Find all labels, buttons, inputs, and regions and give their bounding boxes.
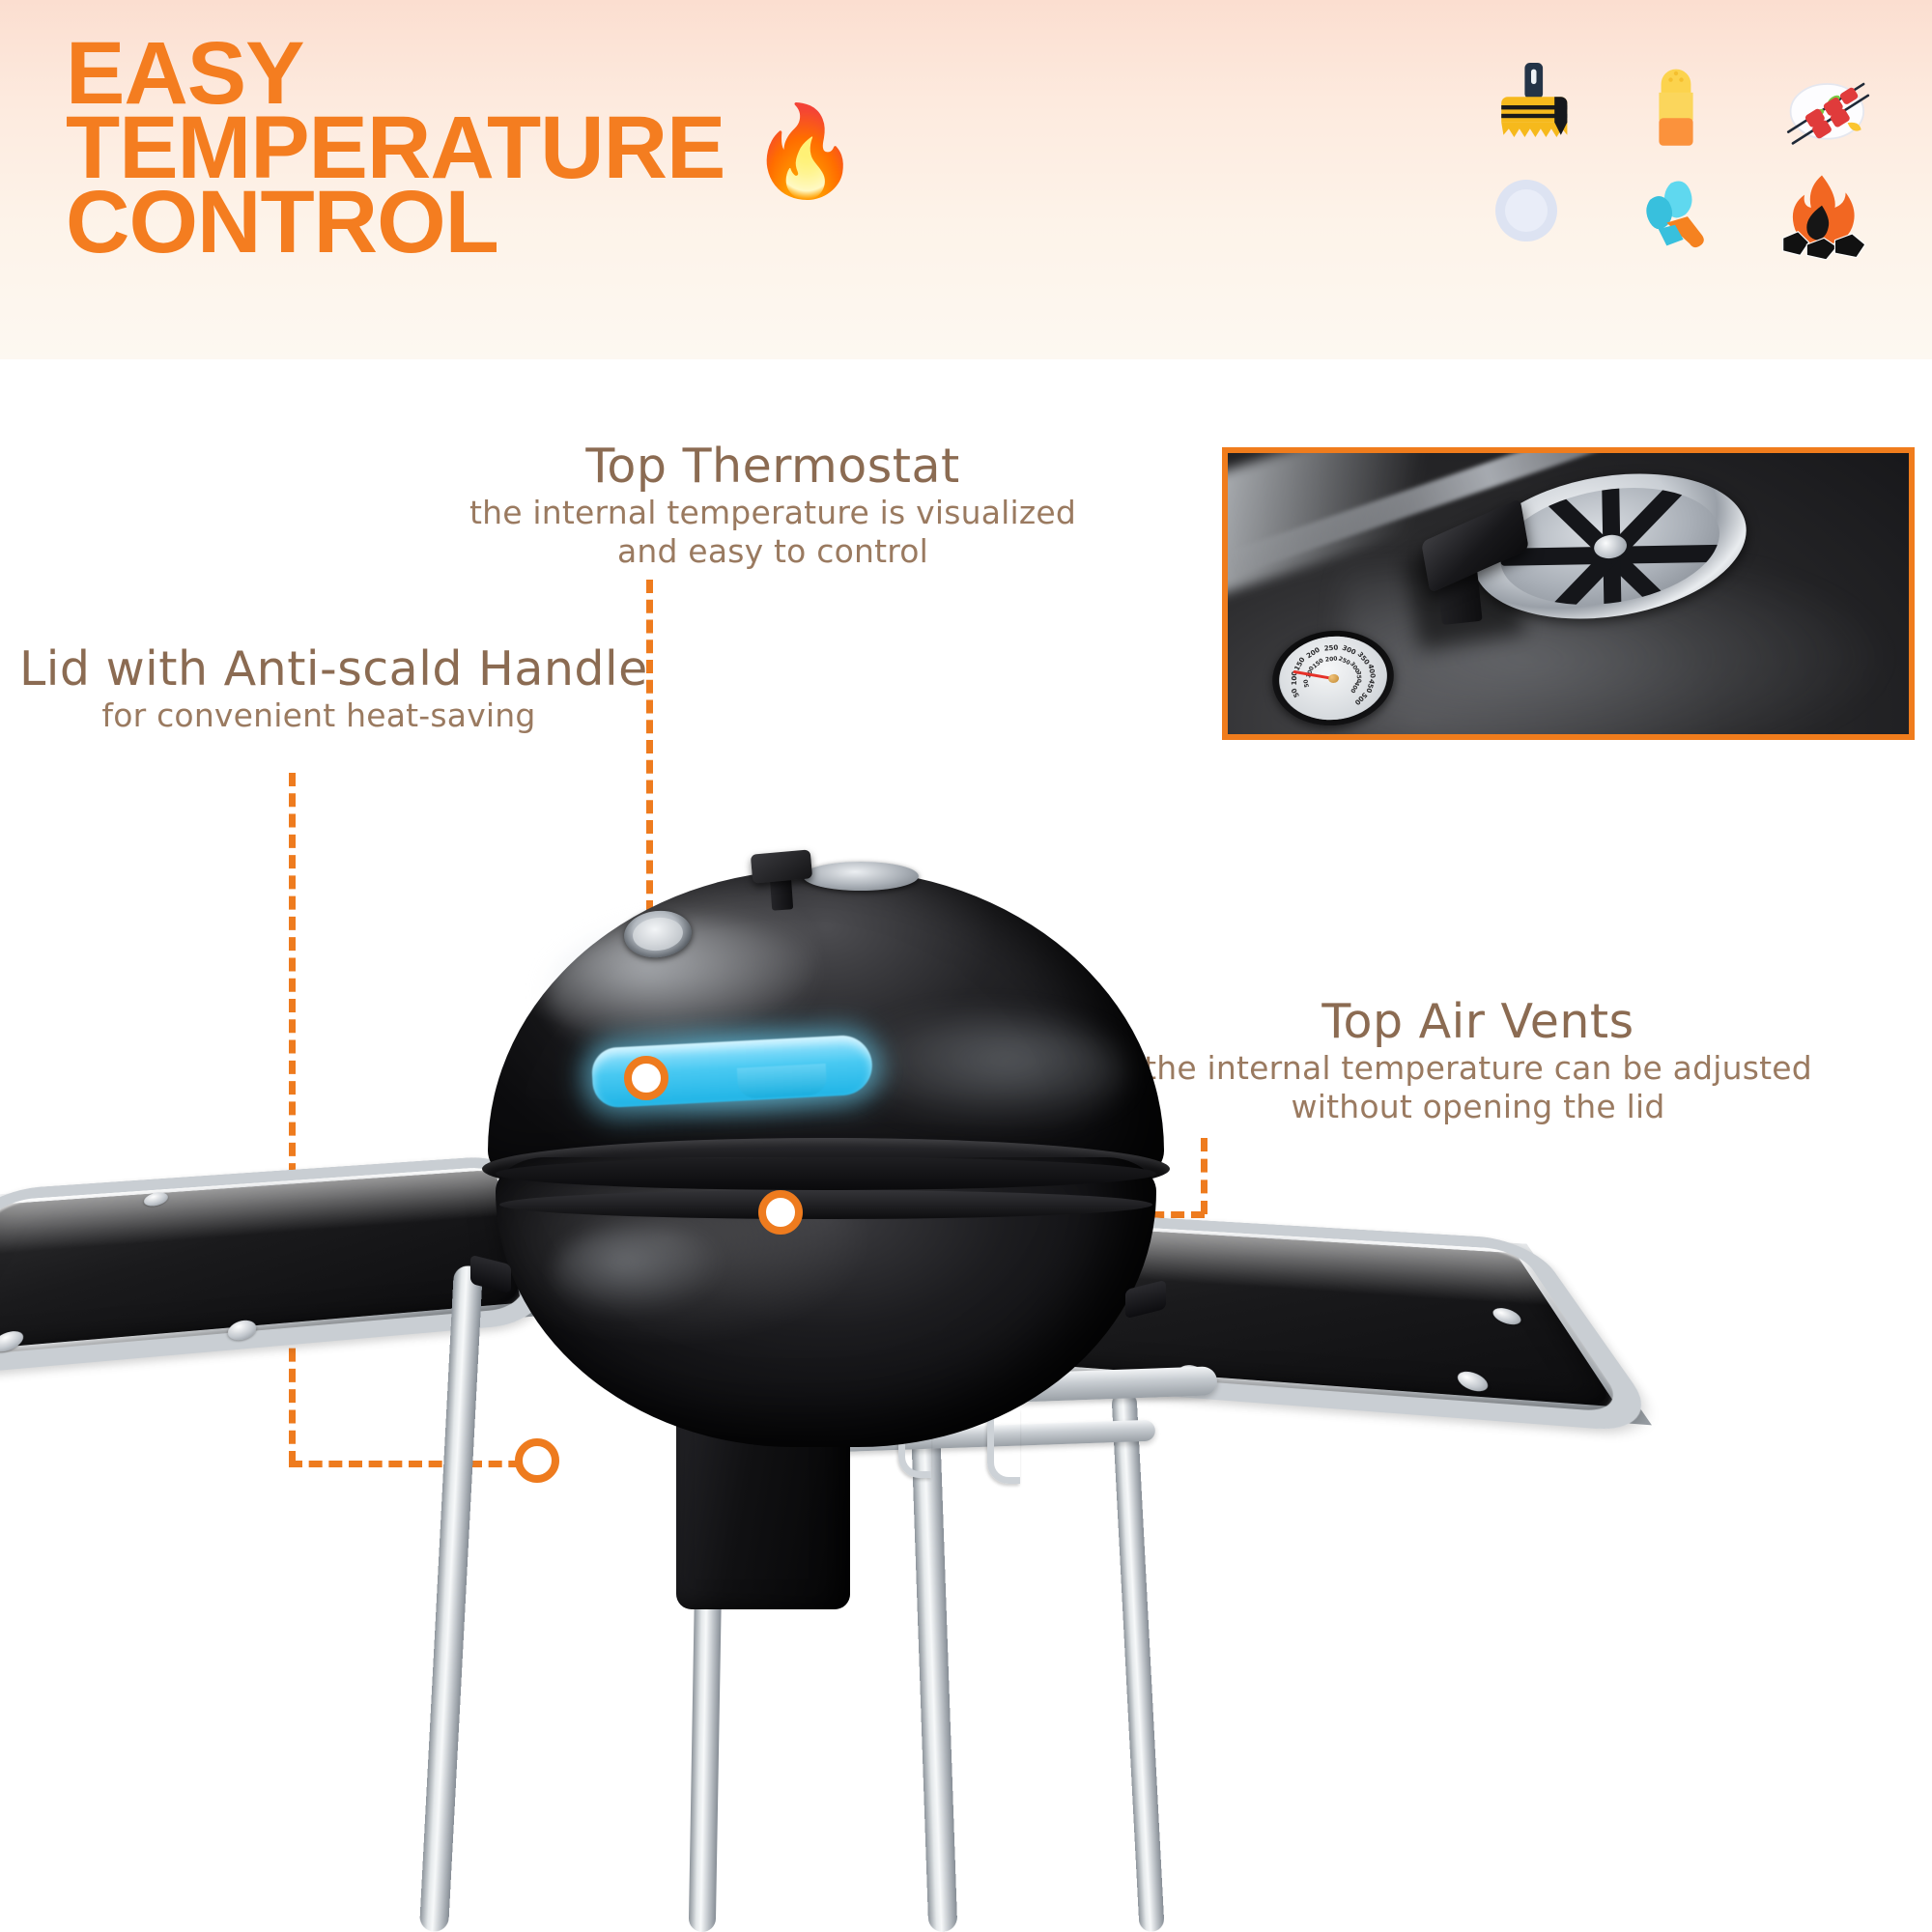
grill-bowl — [496, 1157, 1156, 1447]
tongs-icon — [1623, 162, 1748, 269]
callout-dot-vents — [758, 1190, 803, 1235]
annotation-title: Top Thermostat — [290, 440, 1256, 494]
top-air-vent — [803, 862, 919, 891]
flame-icon: 🔥 — [750, 115, 860, 189]
infographic-canvas: EASY TEMPERATURE🔥 CONTROL — [0, 0, 1932, 1932]
annotation-subtitle-line-1: for convenient heat-saving — [19, 696, 618, 735]
gauge-number-outer: 300 — [1341, 643, 1357, 656]
gauge-number-inner: 150 — [1312, 657, 1325, 669]
leg-front-left — [419, 1265, 483, 1932]
gauge-number-outer: 450 — [1364, 678, 1376, 694]
gauge-number-outer: 400 — [1366, 664, 1377, 679]
salt-shaker-icon — [1623, 52, 1748, 158]
header-icon-grid — [1468, 50, 1903, 270]
annotation-title: Lid with Anti-scald Handle — [19, 642, 618, 696]
annotation-subtitle-line-1: the internal temperature is visualized — [290, 494, 1256, 532]
bowl-band-lower — [499, 1190, 1152, 1219]
vent-slider-lever — [751, 849, 812, 883]
callout-dot-thermostat — [624, 1056, 668, 1100]
callout-dot-lid — [515, 1438, 559, 1483]
annotation-subtitle-line-2: and easy to control — [290, 532, 1256, 571]
gauge-pin — [1327, 673, 1339, 683]
leg-rear-right — [1111, 1391, 1164, 1932]
kebab-skewers-plate-icon — [1768, 52, 1893, 158]
plate-icon — [1478, 162, 1604, 269]
gauge-face: 5010015020025030035040045050050100150200… — [1276, 631, 1390, 724]
header-band: EASY TEMPERATURE🔥 CONTROL — [0, 0, 1932, 359]
gauge-number-inner: 50 — [1302, 678, 1310, 688]
basting-brush-icon — [1478, 52, 1604, 158]
gauge-number-outer: 50 — [1291, 687, 1301, 698]
gauge-number-outer: 250 — [1323, 643, 1338, 652]
charcoal-fire-icon — [1768, 162, 1893, 269]
product-photo-bbq-grill — [0, 850, 1932, 1932]
gauge-number-inner: 200 — [1324, 655, 1337, 663]
annotation-lid-handle: Lid with Anti-scald Handle for convenien… — [19, 642, 618, 735]
handle-grip — [737, 1064, 828, 1099]
page-title: EASY TEMPERATURE🔥 CONTROL — [66, 23, 1321, 260]
bowl-band-upper — [496, 1157, 1156, 1190]
detail-photo-inset: 5010015020025030035040045050050100150200… — [1222, 447, 1915, 740]
annotation-top-thermostat: Top Thermostat the internal temperature … — [290, 440, 1256, 571]
kettle-assembly — [488, 850, 1164, 1391]
bowl-highlight — [554, 1225, 727, 1318]
gauge-number-inner: 400 — [1350, 680, 1361, 694]
